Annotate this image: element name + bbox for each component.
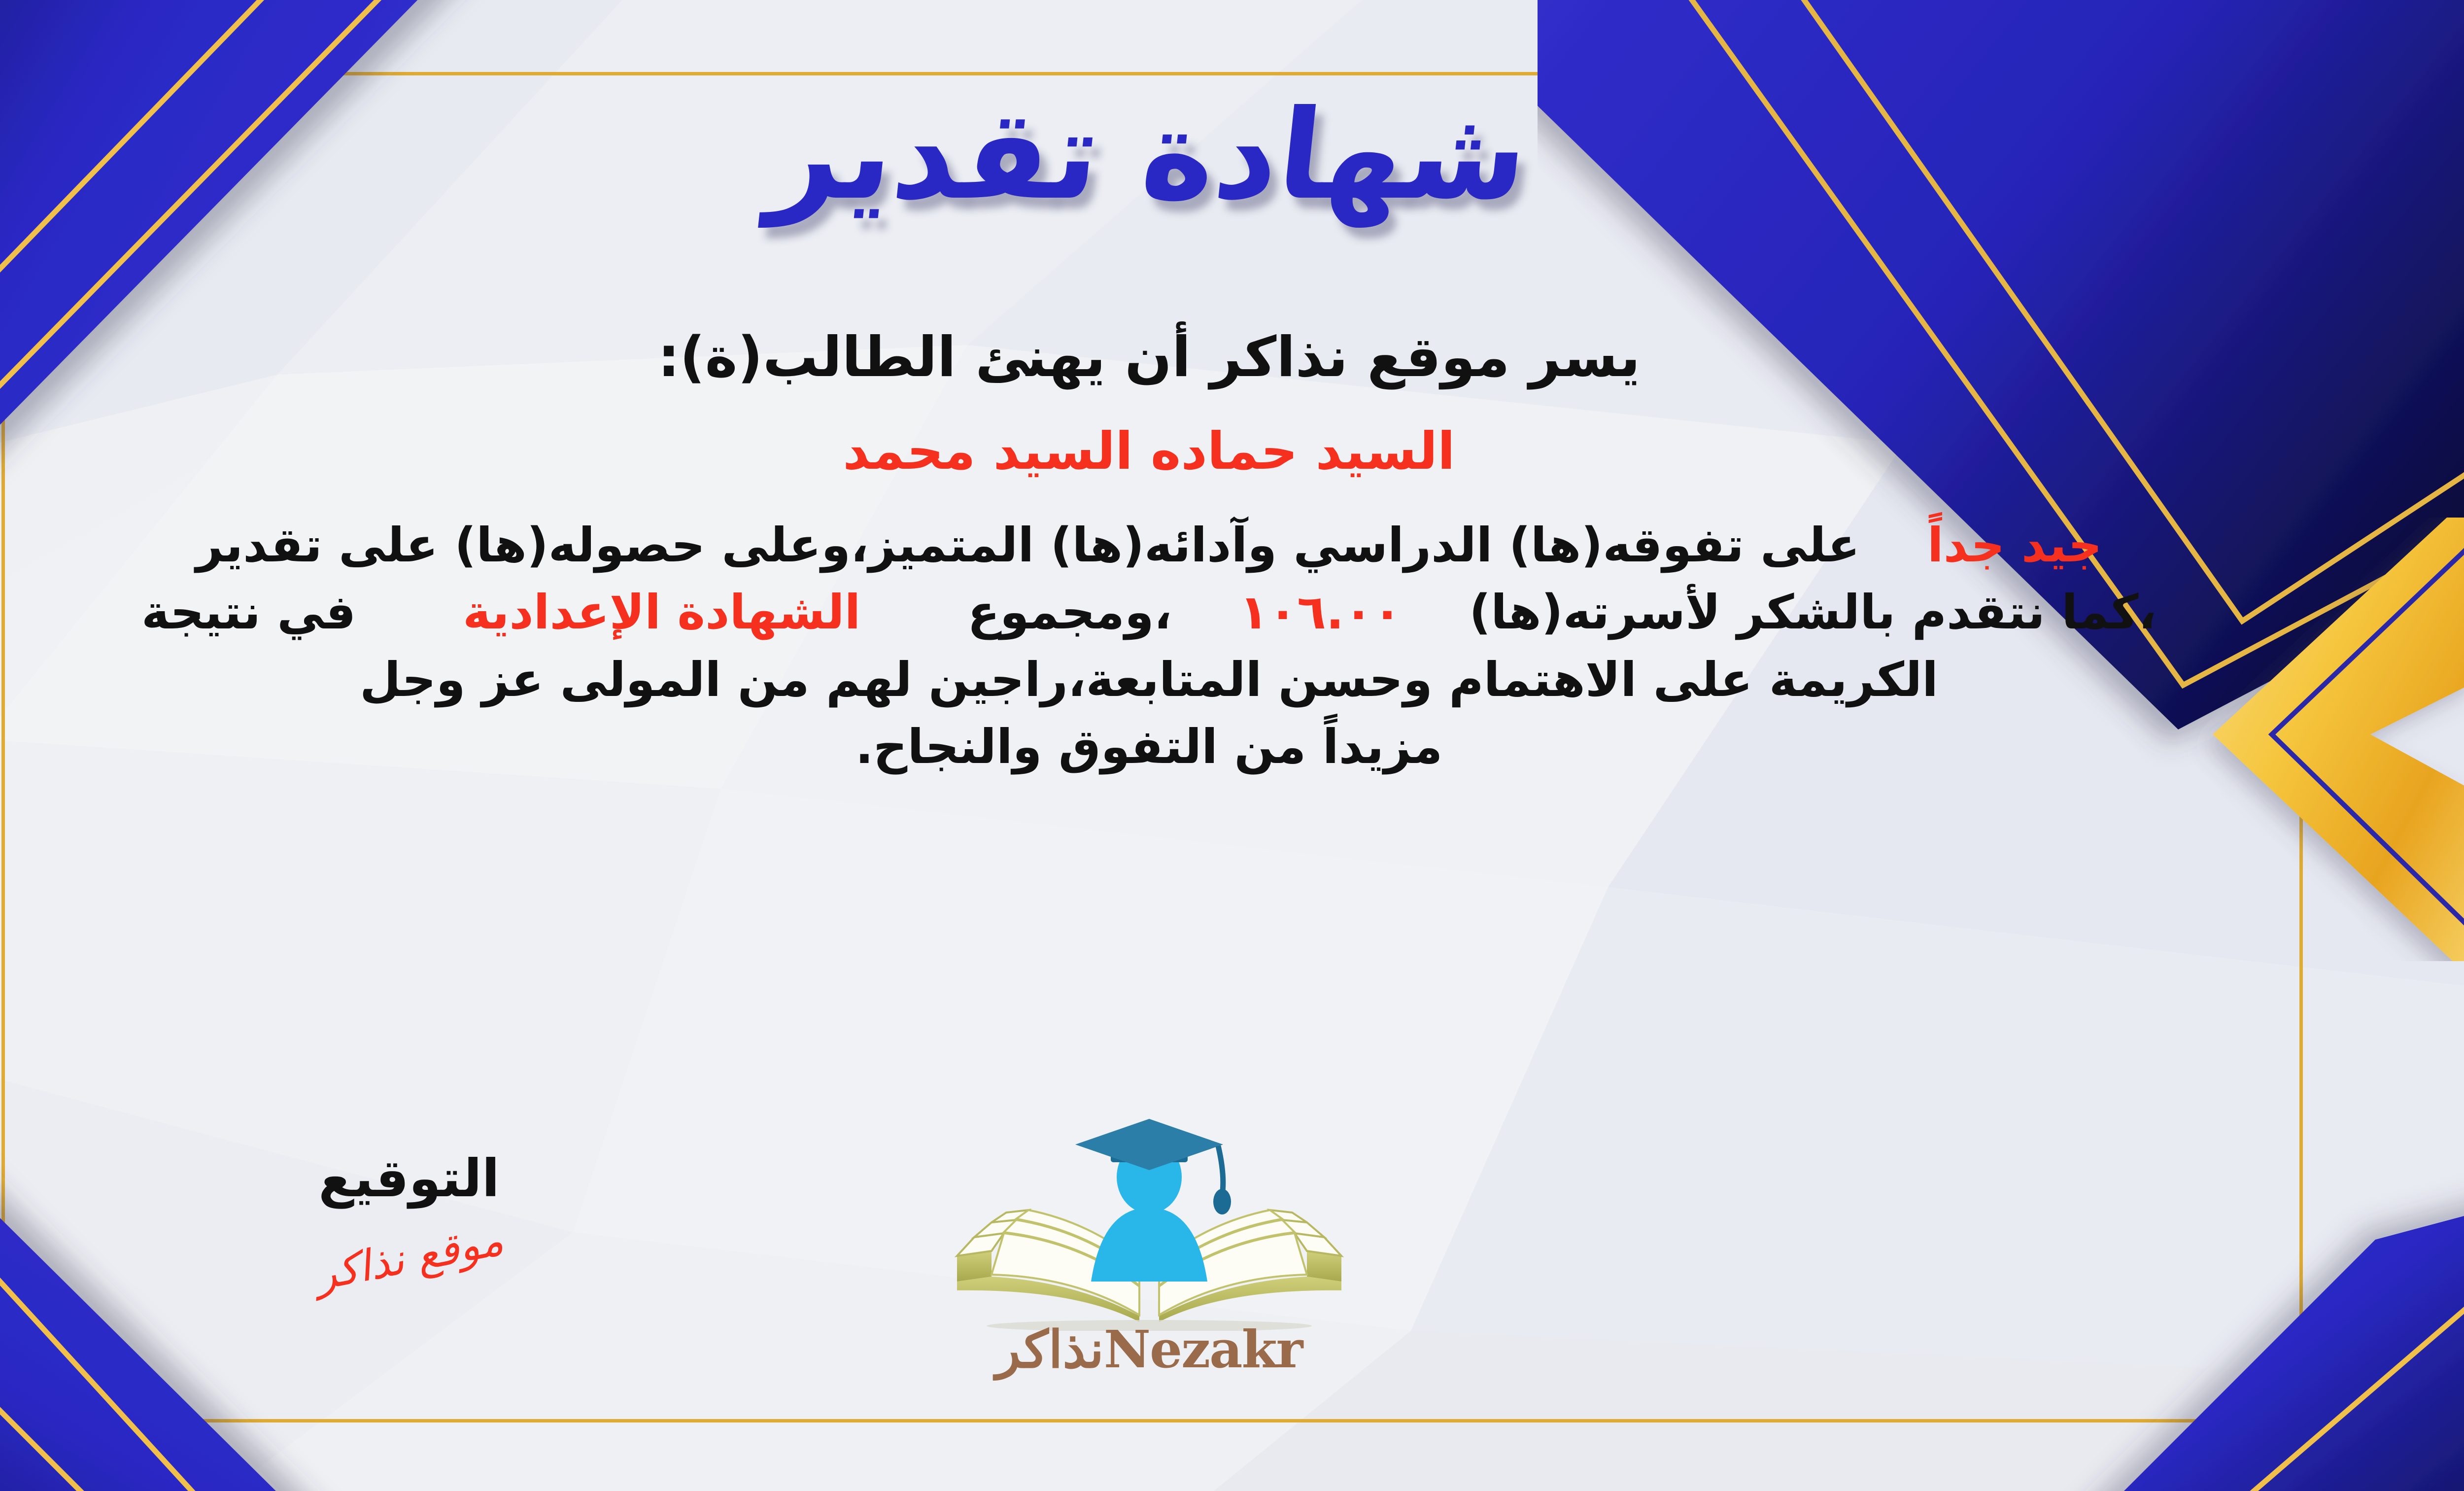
body-line-4-tail: ،كما نتقدم بالشكر لأسرته(ها) [1469, 585, 2156, 640]
body-line-6: مزيداً من التفوق والنجاح. [0, 713, 2317, 780]
body-line-3-text: على تفوقه(ها) الدراسي وآدائه(ها) المتميز… [196, 518, 1860, 573]
certificate-page: شهادة تقدير يسر موقع نذاكر أن يهنئ الطال… [0, 0, 2464, 1491]
certificate-footer: التوقيع موقع نذاكر [0, 1119, 2464, 1434]
graduate-on-book-logo-icon [927, 1119, 1371, 1331]
logo-wordmark: Nezakrنذاكر [927, 1319, 1371, 1380]
student-name: السيد حماده السيد محمد [843, 421, 1455, 481]
logo-wordmark-latin: Nezakr [1104, 1319, 1302, 1380]
certificate-title-text: شهادة تقدير [764, 94, 1534, 217]
site-logo: Nezakrنذاكر [927, 1119, 1371, 1380]
body-line-5: الكريمة على الاهتمام وحسن المتابعة،راجين… [0, 646, 2317, 713]
body-line-3: جيد جداً على تفوقه(ها) الدراسي وآدائه(ها… [0, 512, 2317, 579]
grade-value: جيد جداً [1927, 518, 2102, 573]
greeting-line: يسر موقع نذاكر أن يهنئ الطالب(ة): [658, 325, 1641, 389]
logo-wordmark-arabic: نذاكر [996, 1319, 1104, 1380]
certificate-title: شهادة تقدير [771, 74, 1527, 237]
total-score-value: ١٠٦.٠٠ [1239, 585, 1402, 640]
exam-name-value: الشهادة الإعدادية [463, 585, 860, 640]
signature-handwriting: موقع نذاكر [311, 1215, 507, 1300]
body-line-4-mid: ،ومجموع [967, 585, 1172, 640]
body-line-4: ،كما نتقدم بالشكر لأسرته(ها) ١٠٦.٠٠ ،ومج… [0, 579, 2317, 646]
signature-label: التوقيع [222, 1148, 596, 1209]
certificate-body: جيد جداً على تفوقه(ها) الدراسي وآدائه(ها… [0, 512, 2317, 780]
body-line-4-head: في نتيجة [141, 585, 356, 640]
signature-block: التوقيع موقع نذاكر [222, 1148, 596, 1283]
